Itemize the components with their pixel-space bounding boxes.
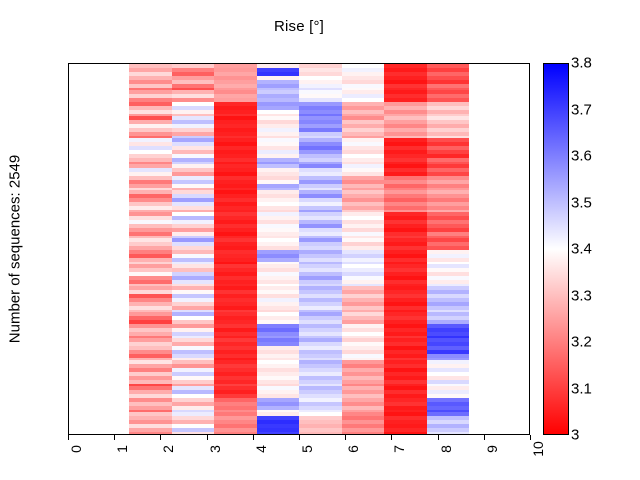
x-axis-tick xyxy=(299,435,300,440)
heatmap-column xyxy=(214,64,257,435)
x-axis-tick xyxy=(207,435,208,440)
heatmap-data-grid xyxy=(129,64,469,435)
y-axis-label-container: Number of sequences: 2549 xyxy=(0,63,30,435)
colorbar[interactable] xyxy=(543,63,569,435)
colorbar-tick-label: 3.4 xyxy=(571,241,592,258)
x-axis-tick xyxy=(438,435,439,440)
colorbar-tick-label: 3.7 xyxy=(571,101,592,118)
colorbar-tick-label: 3.5 xyxy=(571,194,592,211)
x-axis-tick xyxy=(253,435,254,440)
x-axis-tick xyxy=(530,435,531,440)
heatmap-column xyxy=(427,64,470,435)
heatmap-column xyxy=(299,64,342,435)
x-axis-tick xyxy=(391,435,392,440)
x-axis-tick xyxy=(68,435,69,440)
colorbar-tick-label: 3.2 xyxy=(571,334,592,351)
chart-title: Rise [°] xyxy=(68,18,530,35)
x-axis-tick xyxy=(160,435,161,440)
x-axis-tick xyxy=(114,435,115,440)
heatmap-figure: Rise [°] Number of sequences: 2549 01234… xyxy=(0,0,640,480)
y-axis-label: Number of sequences: 2549 xyxy=(7,155,24,343)
colorbar-tick-label: 3.3 xyxy=(571,287,592,304)
colorbar-tick-label: 3 xyxy=(571,427,579,444)
heatmap-column xyxy=(172,64,215,435)
x-axis-tick xyxy=(345,435,346,440)
colorbar-tick-label: 3.6 xyxy=(571,148,592,165)
heatmap-plot-area[interactable] xyxy=(68,63,530,435)
heatmap-column xyxy=(257,64,300,435)
x-axis-tick xyxy=(484,435,485,440)
colorbar-gradient xyxy=(544,64,568,434)
colorbar-tick-label: 3.1 xyxy=(571,380,592,397)
heatmap-column xyxy=(129,64,172,435)
heatmap-column xyxy=(342,64,385,435)
heatmap-column xyxy=(384,64,427,435)
colorbar-tick-label: 3.8 xyxy=(571,55,592,72)
